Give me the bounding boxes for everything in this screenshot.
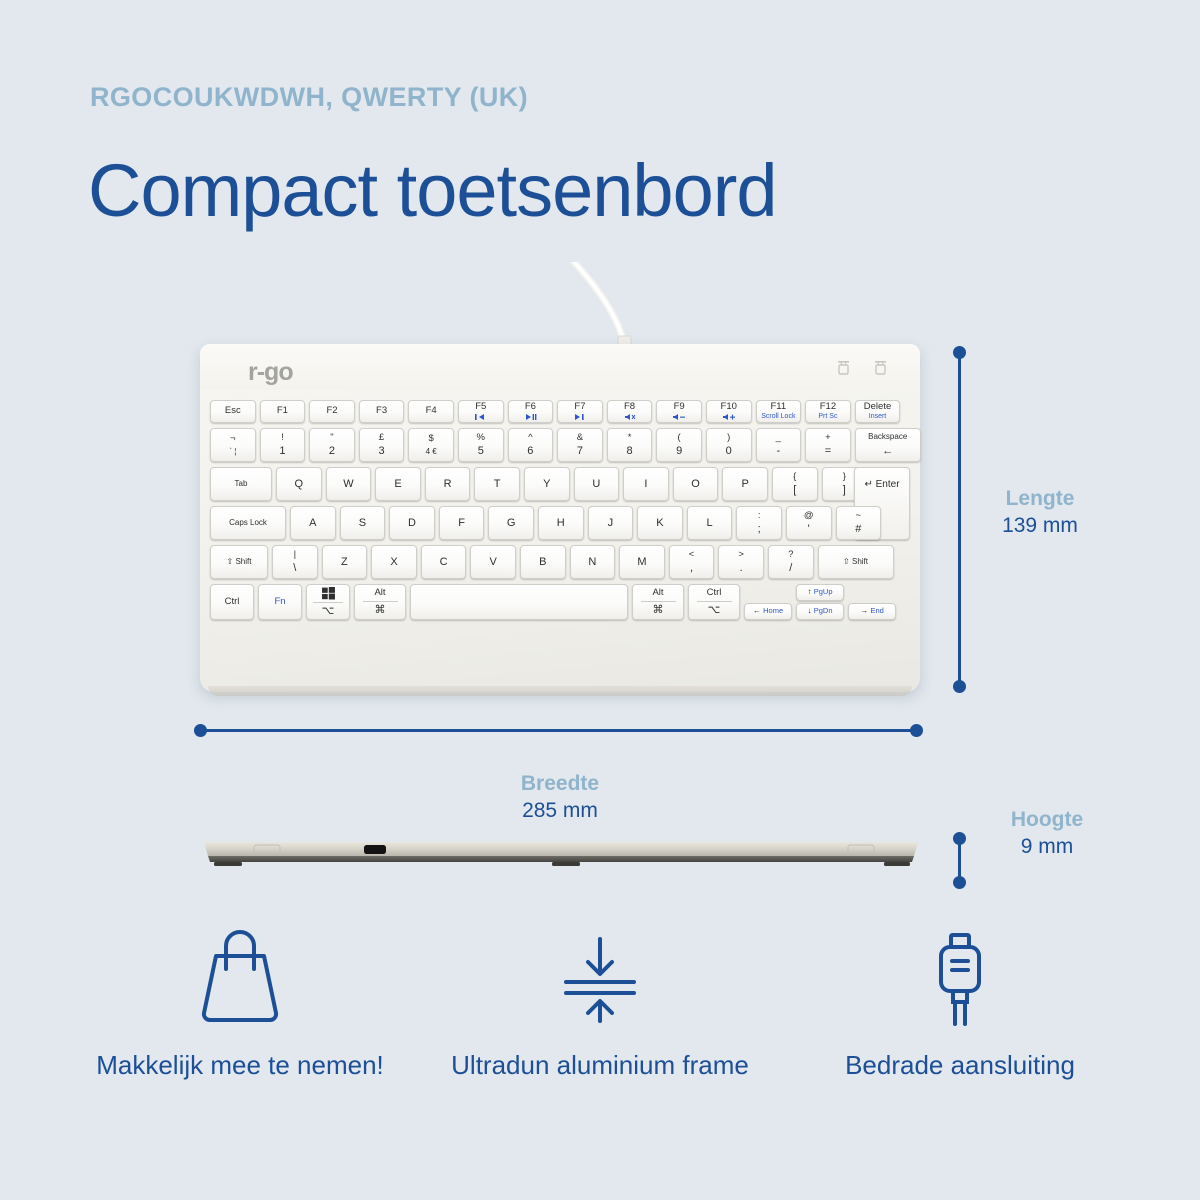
key-equals[interactable]: + = — [805, 428, 851, 462]
key-arrow-right[interactable]: → End — [848, 603, 896, 620]
key-w[interactable]: W — [326, 467, 372, 501]
volume-down-icon — [672, 413, 686, 421]
home-key-row: Caps Lock A S D F G H — [210, 506, 910, 540]
key-6[interactable]: ^ 6 — [508, 428, 554, 462]
usb-cable-icon — [908, 929, 1012, 1031]
width-dim-dot-left — [194, 724, 207, 737]
key-f8[interactable]: F8 — [607, 400, 653, 423]
shift-key-row: ⇧ Shift | \ Z X C V B — [210, 545, 910, 579]
key-space[interactable] — [410, 584, 628, 620]
width-dimension-line — [200, 729, 916, 732]
windows-icon — [322, 587, 335, 600]
keyboard-cable — [566, 262, 646, 348]
key-f4[interactable]: F4 — [408, 400, 454, 423]
key-alt-right[interactable]: Alt ⌘ — [632, 584, 684, 620]
key-d[interactable]: D — [389, 506, 435, 540]
height-dimension-label: Hoogte 9 mm — [968, 808, 1126, 859]
key-f9[interactable]: F9 — [656, 400, 702, 423]
length-dim-dot-top — [953, 346, 966, 359]
feature-thin-frame: Ultradun aluminium frame — [420, 925, 780, 1082]
rgo-logo: r-go — [248, 358, 293, 387]
modifier-key-row: Ctrl Fn ⌥ Alt — [210, 584, 910, 620]
key-f11[interactable]: F11 Scroll Lock — [756, 400, 802, 423]
page-title: Compact toetsenbord — [88, 148, 777, 233]
num-lock-led-icon — [875, 361, 886, 375]
key-minus[interactable]: _ - — [756, 428, 802, 462]
key-s[interactable]: S — [340, 506, 386, 540]
key-divider — [697, 601, 732, 602]
key-semicolon[interactable]: : ; — [736, 506, 782, 540]
key-bracket-left[interactable]: { [ — [772, 467, 818, 501]
keyboard-side-view — [200, 836, 922, 870]
key-t[interactable]: T — [474, 467, 520, 501]
volume-up-icon — [722, 413, 736, 421]
next-track-icon — [573, 413, 586, 421]
key-f7[interactable]: F7 — [557, 400, 603, 423]
key-backspace[interactable]: Backspace ← — [855, 428, 921, 462]
key-backslash[interactable]: | \ — [272, 545, 318, 579]
key-slash[interactable]: ? / — [768, 545, 814, 579]
key-3[interactable]: £ 3 — [359, 428, 405, 462]
key-tab[interactable]: Tab — [210, 467, 272, 501]
length-dimension-label: Lengte 139 mm — [960, 487, 1120, 538]
length-dim-dot-bottom — [953, 680, 966, 693]
key-divider — [363, 601, 398, 602]
width-dimension-label: Breedte 285 mm — [478, 772, 642, 823]
key-esc[interactable]: Esc — [210, 400, 256, 423]
key-f5[interactable]: F5 — [458, 400, 504, 423]
key-v[interactable]: V — [470, 545, 516, 579]
key-apostrophe[interactable]: @ ' — [786, 506, 832, 540]
key-alt-left[interactable]: Alt ⌘ — [354, 584, 406, 620]
key-period[interactable]: > . — [718, 545, 764, 579]
key-f[interactable]: F — [439, 506, 485, 540]
key-a[interactable]: A — [290, 506, 336, 540]
prev-track-icon — [474, 413, 487, 421]
key-f10[interactable]: F10 — [706, 400, 752, 423]
key-m[interactable]: M — [619, 545, 665, 579]
key-arrow-down[interactable]: ↓ PgDn — [796, 603, 844, 620]
keyboard-base-edge — [208, 686, 912, 696]
feature-list: Makkelijk mee te nemen! Ultradun alumini… — [60, 925, 1140, 1082]
key-k[interactable]: K — [637, 506, 683, 540]
thin-profile-icon — [548, 929, 652, 1031]
key-shift-right[interactable]: ⇧ Shift — [818, 545, 894, 579]
key-r[interactable]: R — [425, 467, 471, 501]
key-q[interactable]: Q — [276, 467, 322, 501]
width-dim-dot-right — [910, 724, 923, 737]
key-n[interactable]: N — [570, 545, 616, 579]
feature-caption: Makkelijk mee te nemen! — [60, 1049, 420, 1082]
feature-wired: Bedrade aansluiting — [780, 925, 1140, 1082]
key-4[interactable]: $ 4 € — [408, 428, 454, 462]
key-f1[interactable]: F1 — [260, 400, 306, 423]
key-b[interactable]: B — [520, 545, 566, 579]
key-arrow-up[interactable]: ↑ PgUp — [796, 584, 844, 601]
key-ctrl-left[interactable]: Ctrl — [210, 584, 254, 620]
key-c[interactable]: C — [421, 545, 467, 579]
arrow-up-down-cluster: ↑ PgUp ↓ PgDn — [796, 584, 844, 620]
qwerty-key-row: Tab Q W E R T Y — [210, 467, 910, 501]
key-divider — [641, 601, 676, 602]
key-g[interactable]: G — [488, 506, 534, 540]
caps-lock-led-icon — [838, 361, 849, 375]
key-hash[interactable]: ~ # — [836, 506, 882, 540]
mute-icon — [623, 413, 636, 421]
key-e[interactable]: E — [375, 467, 421, 501]
key-grave[interactable]: ¬ ` ¦ — [210, 428, 256, 462]
key-7[interactable]: & 7 — [557, 428, 603, 462]
shopping-bag-icon — [188, 929, 292, 1031]
key-l[interactable]: L — [687, 506, 733, 540]
key-fn[interactable]: Fn — [258, 584, 302, 620]
feature-caption: Bedrade aansluiting — [780, 1049, 1140, 1082]
height-dim-dot-bottom — [953, 876, 966, 889]
key-caps-lock[interactable]: Caps Lock — [210, 506, 286, 540]
feature-icon-wrap — [60, 925, 420, 1035]
key-j[interactable]: J — [588, 506, 634, 540]
key-9[interactable]: ( 9 — [656, 428, 702, 462]
key-comma[interactable]: < , — [669, 545, 715, 579]
key-f2[interactable]: F2 — [309, 400, 355, 423]
feature-icon-wrap — [780, 925, 1140, 1035]
key-h[interactable]: H — [538, 506, 584, 540]
key-8[interactable]: * 8 — [607, 428, 653, 462]
key-2[interactable]: " 2 — [309, 428, 355, 462]
key-x[interactable]: X — [371, 545, 417, 579]
indicator-leds — [838, 361, 886, 375]
keyboard-top-view: r-go Esc F1 — [200, 344, 920, 692]
key-0[interactable]: ) 0 — [706, 428, 752, 462]
feature-icon-wrap — [420, 925, 780, 1035]
key-1[interactable]: ! 1 — [260, 428, 306, 462]
height-dim-dot-top — [953, 832, 966, 845]
key-f3[interactable]: F3 — [359, 400, 405, 423]
key-u[interactable]: U — [574, 467, 620, 501]
key-p[interactable]: P — [722, 467, 768, 501]
play-pause-icon — [524, 413, 537, 421]
key-o[interactable]: O — [673, 467, 719, 501]
key-delete[interactable]: Delete Insert — [855, 400, 901, 423]
number-key-row: ¬ ` ¦ ! 1 " 2 £ 3 $ 4 € — [210, 428, 910, 462]
key-divider — [313, 602, 342, 603]
key-f12[interactable]: F12 Prt Sc — [805, 400, 851, 423]
feature-portable: Makkelijk mee te nemen! — [60, 925, 420, 1082]
key-rows: Esc F1 F2 F3 F4 F5 — [210, 400, 910, 625]
key-y[interactable]: Y — [524, 467, 570, 501]
key-ctrl-right[interactable]: Ctrl ⌥ — [688, 584, 740, 620]
key-shift-left[interactable]: ⇧ Shift — [210, 545, 268, 579]
product-infographic: RGOCOUKWDWH, QWERTY (UK) Compact toetsen… — [0, 0, 1200, 1200]
key-i[interactable]: I — [623, 467, 669, 501]
key-windows[interactable]: ⌥ — [306, 584, 350, 620]
key-f6[interactable]: F6 — [508, 400, 554, 423]
key-z[interactable]: Z — [322, 545, 368, 579]
function-key-row: Esc F1 F2 F3 F4 F5 — [210, 400, 910, 423]
feature-caption: Ultradun aluminium frame — [420, 1049, 780, 1082]
product-sku: RGOCOUKWDWH, QWERTY (UK) — [90, 82, 528, 113]
keyboard-bezel — [200, 344, 920, 390]
key-arrow-left[interactable]: ← Home — [744, 603, 792, 620]
key-5[interactable]: % 5 — [458, 428, 504, 462]
